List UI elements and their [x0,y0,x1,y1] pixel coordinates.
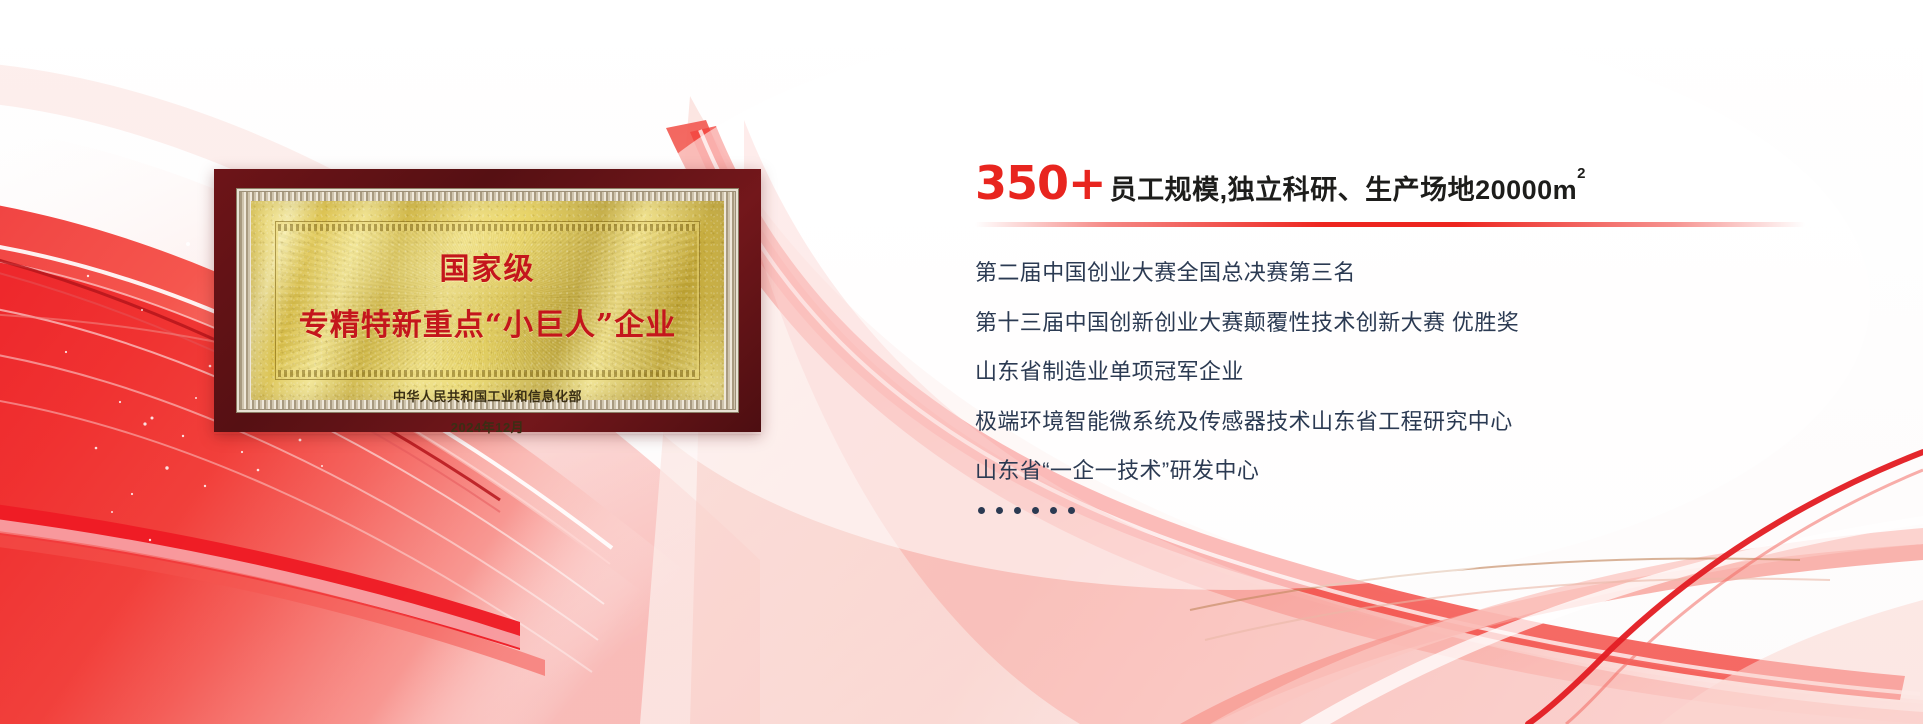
plaque-text-block: 国家级 专精特新重点“小巨人”企业 中华人民共和国工业和信息化部 2024年12… [251,201,724,400]
award-item: 山东省制造业单项冠军企业 [975,358,1875,386]
plaque-silver-border: 国家级 专精特新重点“小巨人”企业 中华人民共和国工业和信息化部 2024年12… [236,188,739,413]
plaque-title-line-2: 专精特新重点“小巨人”企业 [299,300,677,344]
ellipsis-dot [1032,507,1039,514]
award-item: 山东省“一企一技术”研发中心 [975,457,1875,485]
headline-divider [975,222,1805,227]
plaque-issuing-organization: 中华人民共和国工业和信息化部 [393,386,582,405]
award-list: 第二届中国创业大赛全国总决赛第三名 第十三届中国创新创业大赛颠覆性技术创新大赛 … [975,259,1875,514]
ellipsis-dot [1014,507,1021,514]
plaque-gold-face: 国家级 专精特新重点“小巨人”企业 中华人民共和国工业和信息化部 2024年12… [251,201,724,400]
award-item: 极端环境智能微系统及传感器技术山东省工程研究中心 [975,408,1875,436]
headline-text: 员工规模,独立科研、生产场地20000m2 [1110,177,1586,204]
award-item: 第十三届中国创新创业大赛颠覆性技术创新大赛 优胜奖 [975,309,1875,337]
headline-number: 350+ [975,160,1106,206]
content-column: 350+ 员工规模,独立科研、生产场地20000m2 第二届中国创业大赛全国总决… [975,160,1875,514]
ellipsis-dot [1068,507,1075,514]
headline-text-main: 员工规模,独立科研、生产场地20000m [1110,175,1578,205]
headline: 350+ 员工规模,独立科研、生产场地20000m2 [975,160,1875,206]
ellipsis-dot [978,507,985,514]
plaque-issue-date: 2024年12月 [451,417,524,436]
plaque-title-line-1: 国家级 [440,244,536,288]
ellipsis-dot [996,507,1003,514]
ellipsis-dot [1050,507,1057,514]
plaque-frame: 国家级 专精特新重点“小巨人”企业 中华人民共和国工业和信息化部 2024年12… [214,169,761,432]
banner-stage: 国家级 专精特新重点“小巨人”企业 中华人民共和国工业和信息化部 2024年12… [0,0,1923,724]
ellipsis-dots [975,507,1875,514]
award-plaque: 国家级 专精特新重点“小巨人”企业 中华人民共和国工业和信息化部 2024年12… [214,169,761,432]
headline-superscript: 2 [1577,165,1586,182]
award-item: 第二届中国创业大赛全国总决赛第三名 [975,259,1875,287]
